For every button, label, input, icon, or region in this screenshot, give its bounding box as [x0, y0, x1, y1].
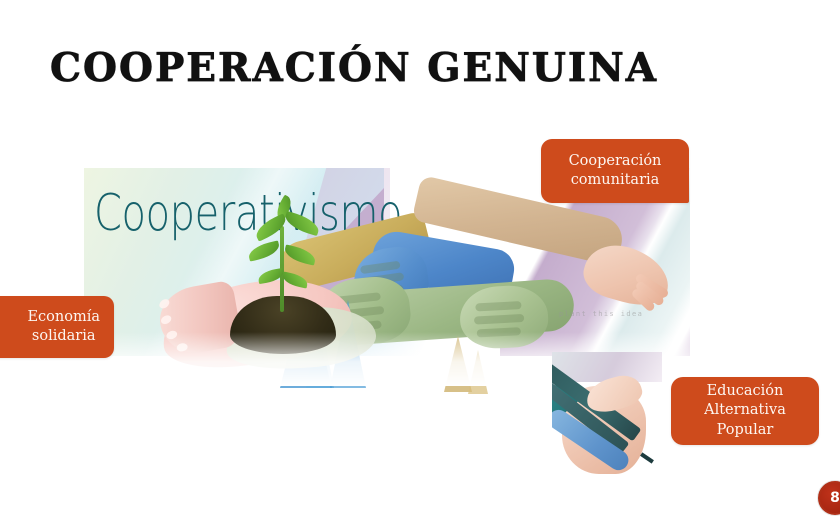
callout-cooperacion-comunitaria[interactable]: Cooperación comunitaria [541, 139, 689, 203]
slide-canvas: COOPERACIÓN GENUINA Cooperativismo [0, 0, 840, 520]
knuckle [475, 301, 521, 311]
fingernail [159, 314, 172, 326]
callout-line: Cooperación [569, 153, 662, 169]
callout-line: Educación [707, 383, 784, 399]
callout-line: Alternativa [704, 402, 786, 418]
callout-line: solidaria [32, 328, 96, 344]
callout-text: Economía solidaria [27, 308, 100, 346]
plant-this-idea-caption: plant this idea [559, 310, 643, 318]
hand-with-pen-photo [552, 352, 662, 474]
callout-text: Cooperación comunitaria [569, 152, 662, 190]
callout-economia-solidaria[interactable]: Economía solidaria [0, 296, 114, 358]
callout-text: Educación Alternativa Popular [704, 382, 786, 439]
callout-line: Economía [27, 309, 100, 325]
callout-line: comunitaria [571, 172, 660, 188]
corner-badge[interactable]: 8 [818, 481, 840, 515]
callout-educacion-alternativa-popular[interactable]: Educación Alternativa Popular [671, 377, 819, 445]
page-title: COOPERACIÓN GENUINA [50, 45, 658, 91]
callout-line: Popular [717, 422, 774, 438]
knuckle [474, 314, 524, 325]
pen-tip [640, 452, 654, 463]
